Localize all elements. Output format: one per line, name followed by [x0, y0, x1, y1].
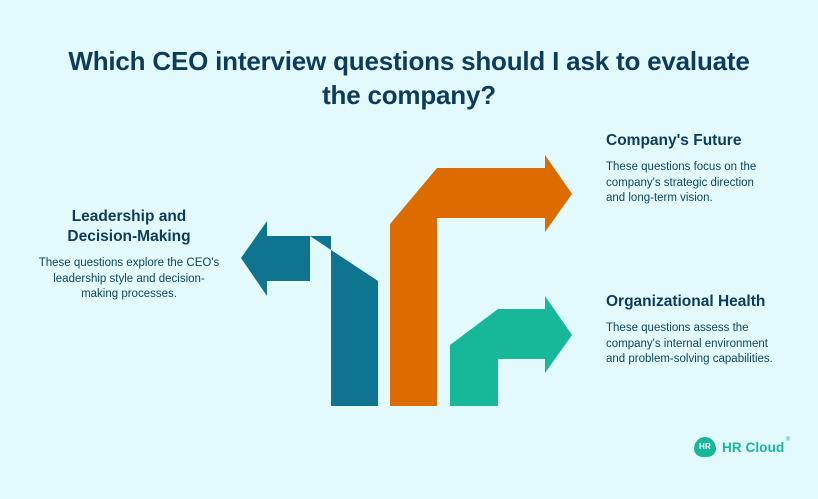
orange-right-arrow-column-icon: [390, 224, 437, 406]
orange-right-arrow-shaft-icon: [437, 155, 572, 232]
callout-leadership-body: These questions explore the CEO's leader…: [36, 256, 222, 303]
hr-cloud-logo: HR HR Cloud®: [694, 437, 784, 457]
teal-left-arrowhead-icon: [310, 236, 378, 281]
callout-company-future: Company's Future These questions focus o…: [606, 131, 774, 207]
infographic-canvas: Which CEO interview questions should I a…: [0, 0, 818, 499]
callout-leadership: Leadership and Decision-Making These que…: [36, 207, 222, 303]
hr-cloud-mark-icon: HR: [694, 437, 716, 457]
green-right-arrowhead-icon: [450, 309, 498, 345]
callout-company-future-heading: Company's Future: [606, 131, 774, 151]
callout-organizational-health: Organizational Health These questions as…: [606, 292, 782, 368]
green-right-arrow-column-icon: [450, 345, 498, 406]
hr-cloud-mark-text: HR: [699, 443, 711, 451]
teal-left-arrow-icon: [331, 281, 378, 406]
callout-company-future-body: These questions focus on the company's s…: [606, 160, 774, 207]
orange-right-arrowhead-icon: [390, 168, 437, 224]
page-title: Which CEO interview questions should I a…: [60, 44, 758, 112]
callout-leadership-heading: Leadership and Decision-Making: [36, 207, 222, 247]
hr-cloud-wordmark: HR Cloud®: [722, 440, 784, 455]
hr-cloud-wordmark-text: HR Cloud: [722, 440, 784, 455]
callout-organizational-health-heading: Organizational Health: [606, 292, 782, 312]
green-right-arrow-shaft-icon: [498, 296, 572, 373]
hr-cloud-trademark: ®: [786, 437, 791, 443]
teal-left-arrow-shaft-icon: [241, 221, 310, 296]
callout-organizational-health-body: These questions assess the company's int…: [606, 321, 782, 368]
